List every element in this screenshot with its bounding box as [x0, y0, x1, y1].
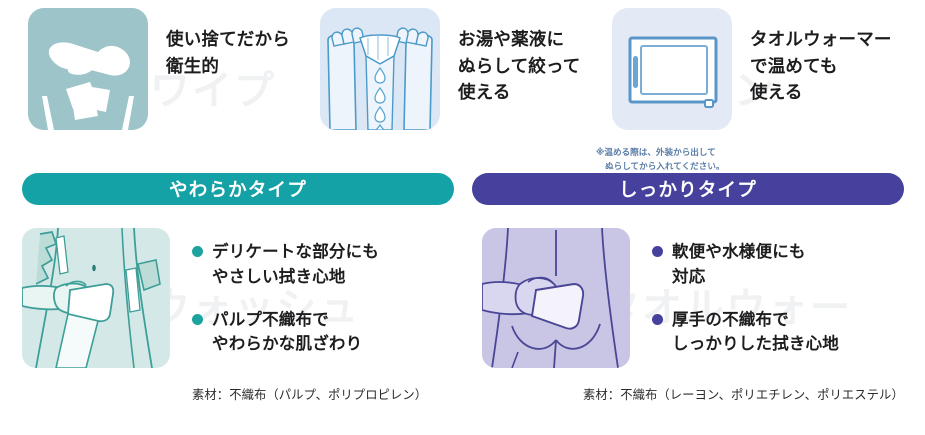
material-caption-firm: 素材：不織布（レーヨン、ポリエチレン、ポリエステル）: [583, 385, 904, 403]
firm-type-bullet-list: 軟便や水様便にも 対応 厚手の不織布で しっかりした拭き心地: [652, 228, 839, 357]
hand-wiping-with-cloth-teal-illustration: [22, 228, 170, 368]
soft-bullet-1: デリケートな部分にも やさしい拭き心地: [212, 240, 379, 290]
feature-item-towel-warmer: タオルウォーマー で温めても 使える: [612, 8, 892, 130]
panel-firm-type: 軟便や水様便にも 対応 厚手の不織布で しっかりした拭き心地: [482, 228, 839, 368]
banner-firm-type: しっかりタイプ: [472, 173, 904, 205]
soft-bullet-2: パルプ不織布で やわらかな肌ざわり: [212, 308, 362, 358]
soft-type-bullet-list: デリケートな部分にも やさしい拭き心地 パルプ不織布で やわらかな肌ざわり: [192, 228, 379, 357]
feature-label-towel-warmer: タオルウォーマー で温めても 使える: [750, 8, 892, 106]
material-caption-soft: 素材：不織布（パルプ、ポリプロピレン）: [192, 385, 427, 403]
footnote-line-2: ぬらしてから入れてください。: [596, 160, 725, 173]
panel-soft-type: デリケートな部分にも やさしい拭き心地 パルプ不織布で やわらかな肌ざわり: [22, 228, 379, 368]
bullet-dot-icon: [192, 314, 203, 325]
bullet-dot-icon: [192, 246, 203, 257]
hands-wringing-cloth-with-droplets-icon: [320, 8, 440, 130]
towel-warmer-icon: [612, 8, 732, 130]
firm-bullet-2: 厚手の不織布で しっかりした拭き心地: [672, 308, 839, 358]
feature-item-disposable: 使い捨てだから 衛生的: [28, 8, 290, 130]
list-item: 軟便や水様便にも 対応: [652, 240, 839, 290]
hand-wiping-buttocks-purple-illustration: [482, 228, 630, 368]
hand-dropping-wipes-into-bin-icon: [28, 8, 148, 130]
footnote-line-1: ※温める際は、外装から出して: [596, 147, 716, 157]
firm-bullet-1: 軟便や水様便にも 対応: [672, 240, 806, 290]
list-item: パルプ不織布で やわらかな肌ざわり: [192, 308, 379, 358]
list-item: デリケートな部分にも やさしい拭き心地: [192, 240, 379, 290]
feature-label-disposable: 使い捨てだから 衛生的: [166, 8, 290, 79]
bullet-dot-icon: [652, 246, 663, 257]
feature-row: 使い捨てだから 衛生的: [0, 0, 925, 168]
feature-label-wet-use: お湯や薬液に ぬらして絞って 使える: [458, 8, 581, 106]
feature-item-wet-use: お湯や薬液に ぬらして絞って 使える: [320, 8, 581, 130]
banner-soft-type: やわらかタイプ: [22, 173, 454, 205]
list-item: 厚手の不織布で しっかりした拭き心地: [652, 308, 839, 358]
bullet-dot-icon: [652, 314, 663, 325]
